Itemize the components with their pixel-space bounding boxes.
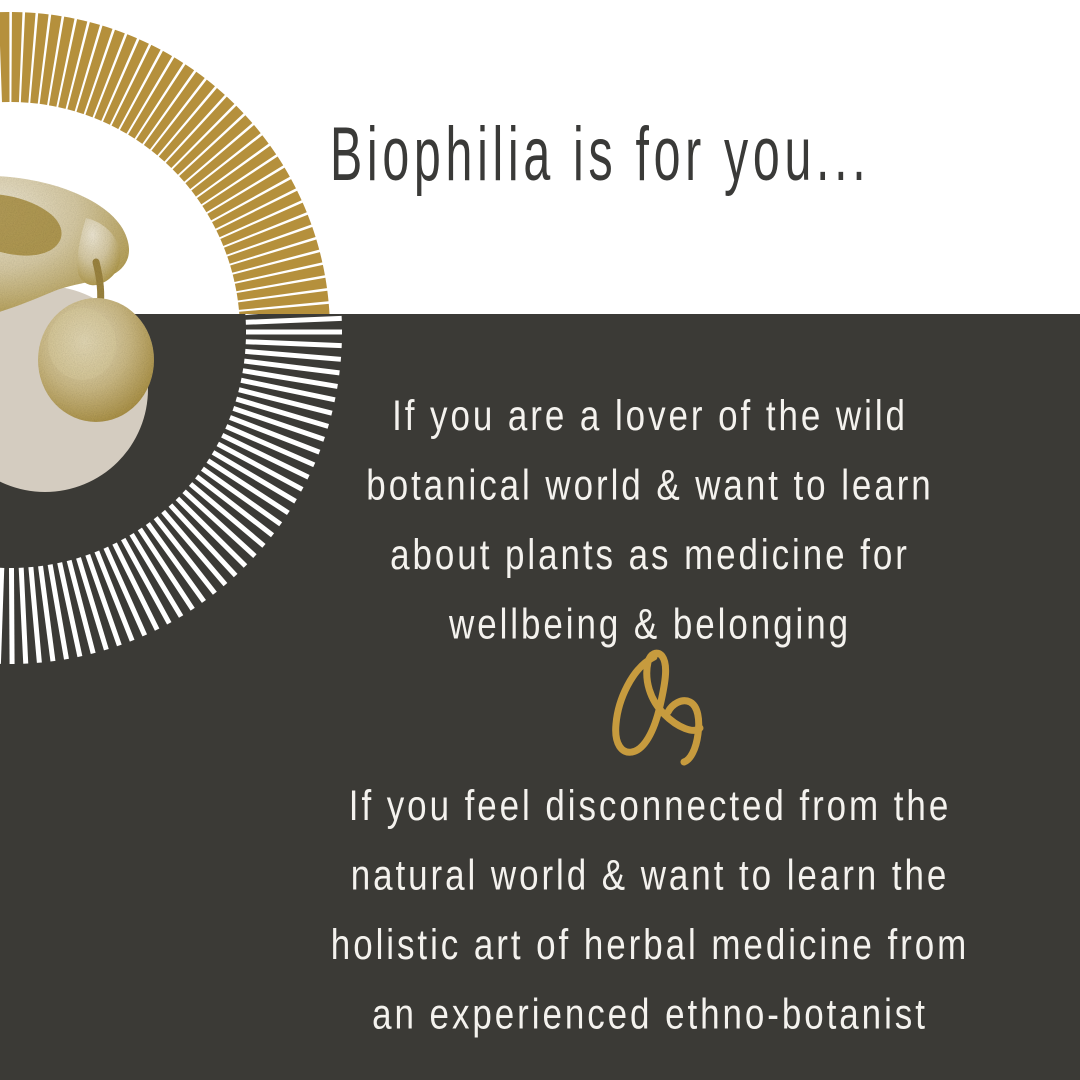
intro-paragraph-one: If you are a lover of the wild botanical… <box>300 382 999 660</box>
intro-paragraph-two: If you feel disconnected from the natura… <box>282 772 1018 1050</box>
poster-canvas: Biophilia is for you... If you are a lov… <box>0 0 1080 1080</box>
page-title: Biophilia is for you... <box>330 118 884 194</box>
